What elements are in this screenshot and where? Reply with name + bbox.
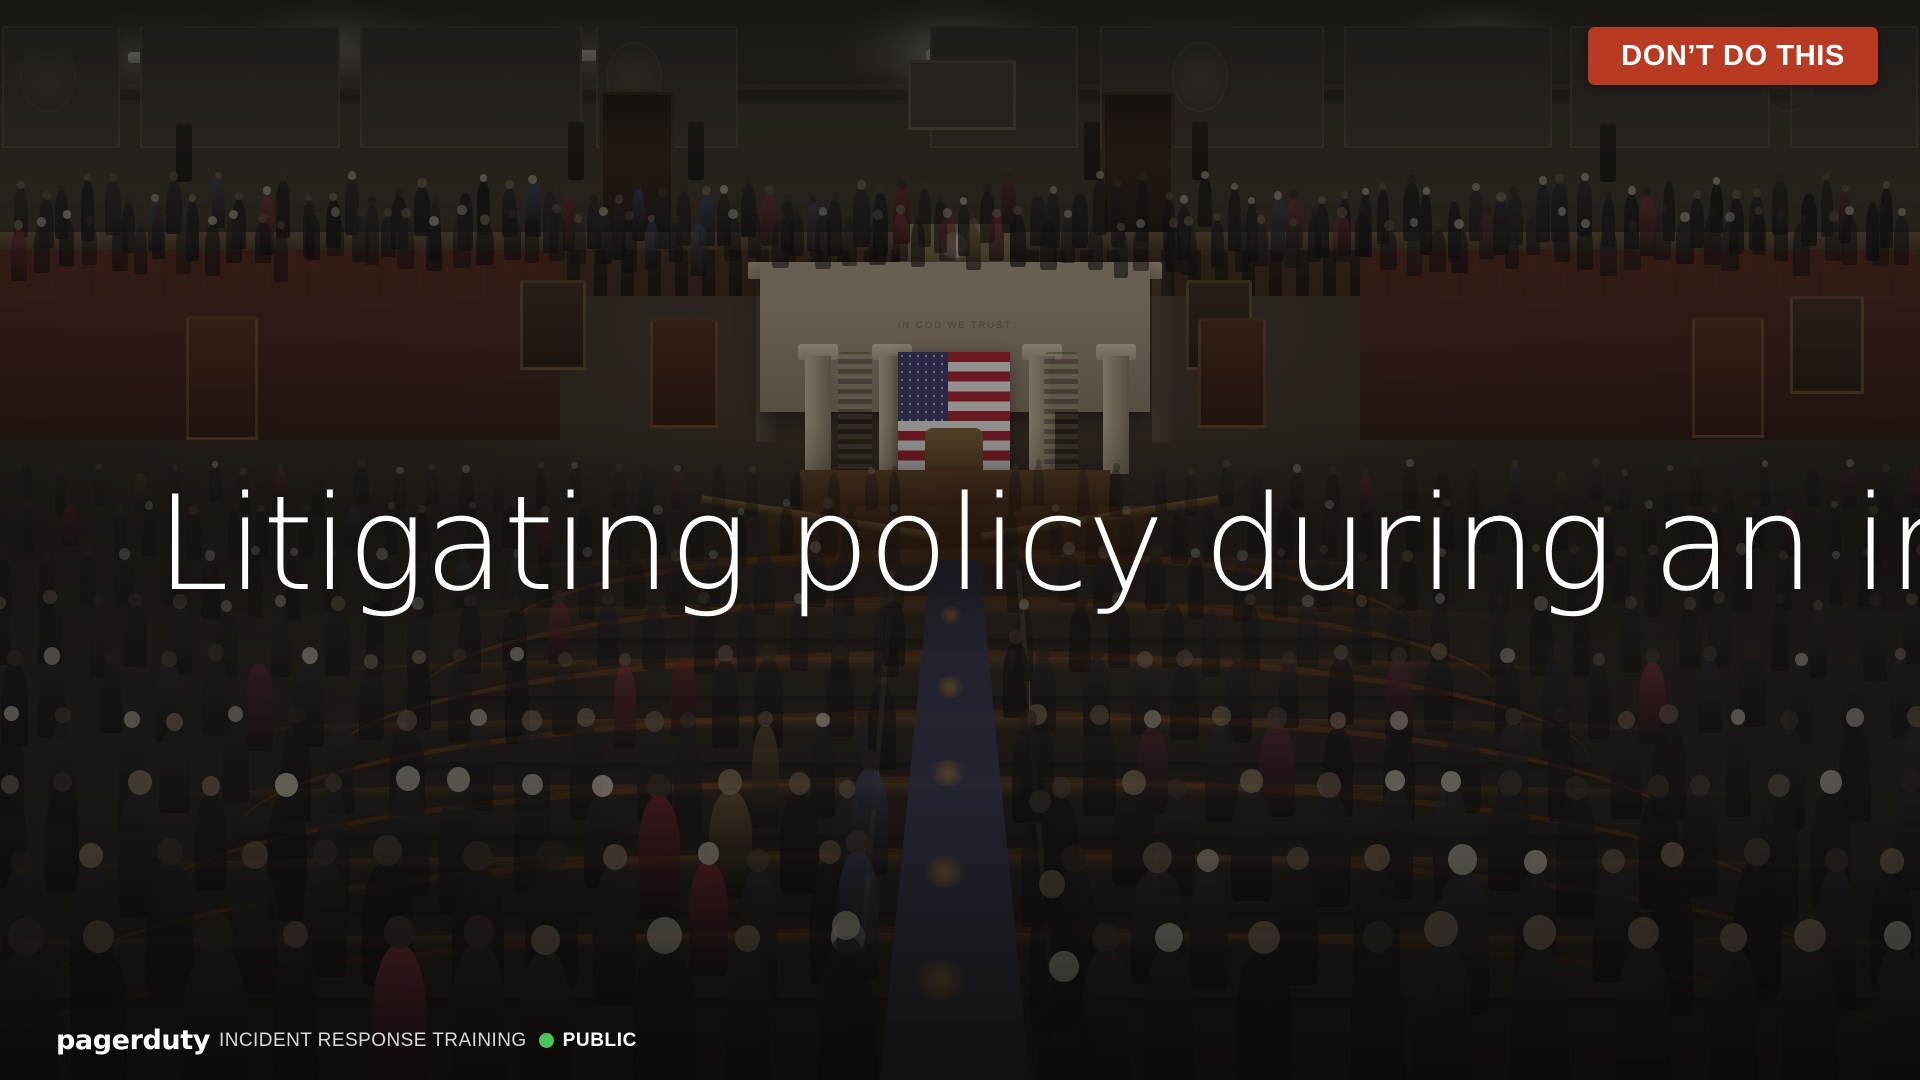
badge-label: DON’T DO THIS bbox=[1621, 40, 1845, 73]
green-status-dot-icon bbox=[539, 1033, 554, 1048]
pagerduty-logo: pagerduty bbox=[56, 1025, 210, 1056]
presentation-slide: IN GOD WE TRUST bbox=[0, 0, 1920, 1080]
slide-headline: Litigating policy during an incident. bbox=[156, 478, 1796, 609]
visibility-label: PUBLIC bbox=[563, 1030, 637, 1052]
dont-do-this-badge[interactable]: DON’T DO THIS bbox=[1588, 27, 1878, 85]
training-program-label: INCIDENT RESPONSE TRAINING bbox=[219, 1030, 527, 1052]
slide-footer: pagerduty INCIDENT RESPONSE TRAINING PUB… bbox=[56, 1025, 637, 1056]
